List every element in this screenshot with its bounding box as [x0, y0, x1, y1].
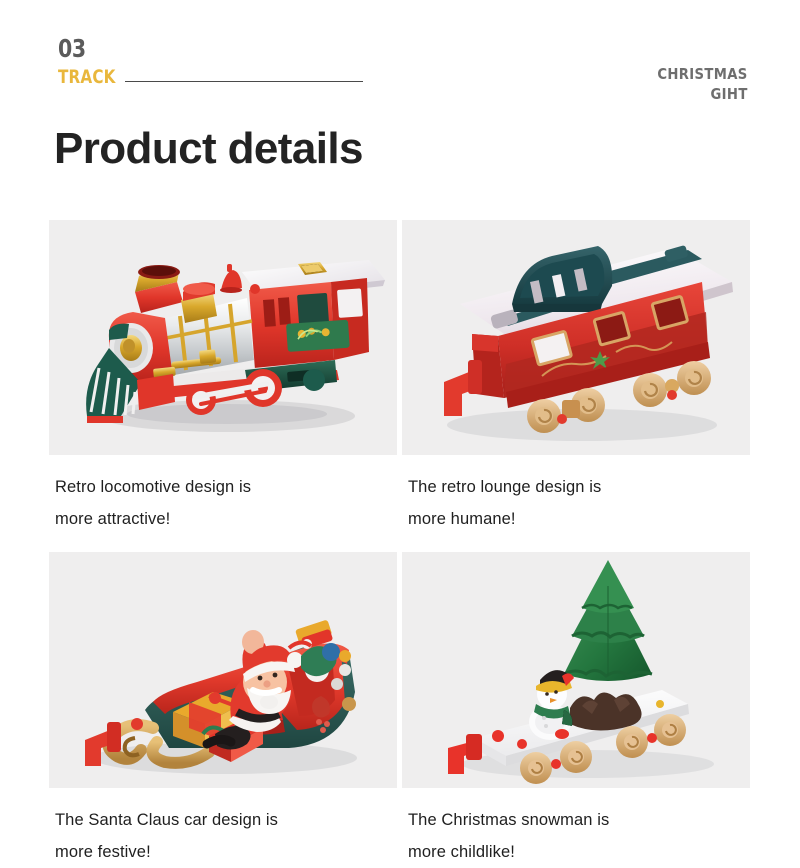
section-label: TRACK: [58, 68, 116, 87]
header-divider-line: [125, 81, 363, 82]
caption-line-2: more humane!: [408, 503, 748, 535]
caption-line-2: more childlike!: [408, 836, 748, 868]
caption-line-1: Retro locomotive design is: [55, 471, 395, 503]
locomotive-illustration: [49, 220, 397, 455]
santa-sleigh-illustration: [49, 552, 397, 788]
product-photo-locomotive[interactable]: [49, 220, 397, 455]
caption-line-1: The Christmas snowman is: [408, 804, 748, 836]
product-photo-santa-sleigh[interactable]: [49, 552, 397, 788]
brand-mark: CHRISTMAS GIHT: [645, 64, 748, 104]
snowman-car-illustration: [402, 552, 750, 788]
gallery-item-snowman-car[interactable]: The Christmas snowman is more childlike!: [402, 552, 750, 868]
product-details-page: 03 TRACK CHRISTMAS GIHT Product details: [0, 0, 800, 868]
product-photo-lounge-car[interactable]: [402, 220, 750, 455]
gallery-item-lounge-car[interactable]: The retro lounge design is more humane!: [402, 220, 750, 545]
product-photo-snowman-car[interactable]: [402, 552, 750, 788]
caption-snowman-car: The Christmas snowman is more childlike!: [402, 788, 750, 868]
caption-line-1: The retro lounge design is: [408, 471, 748, 503]
section-number: 03: [58, 36, 86, 61]
gallery-item-santa-sleigh[interactable]: The Santa Claus car design is more festi…: [49, 552, 397, 868]
brand-line-2: GIHT: [658, 84, 748, 104]
page-header: 03 TRACK CHRISTMAS GIHT: [0, 0, 800, 120]
lounge-car-illustration: [402, 220, 750, 455]
gallery-item-locomotive[interactable]: Retro locomotive design is more attracti…: [49, 220, 397, 545]
caption-line-2: more attractive!: [55, 503, 395, 535]
page-title: Product details: [54, 125, 363, 173]
caption-locomotive: Retro locomotive design is more attracti…: [49, 455, 397, 545]
caption-line-2: more festive!: [55, 836, 395, 868]
caption-santa-sleigh: The Santa Claus car design is more festi…: [49, 788, 397, 868]
caption-lounge-car: The retro lounge design is more humane!: [402, 455, 750, 545]
caption-line-1: The Santa Claus car design is: [55, 804, 395, 836]
brand-line-1: CHRISTMAS: [658, 64, 748, 84]
product-gallery-grid: Retro locomotive design is more attracti…: [49, 220, 750, 868]
